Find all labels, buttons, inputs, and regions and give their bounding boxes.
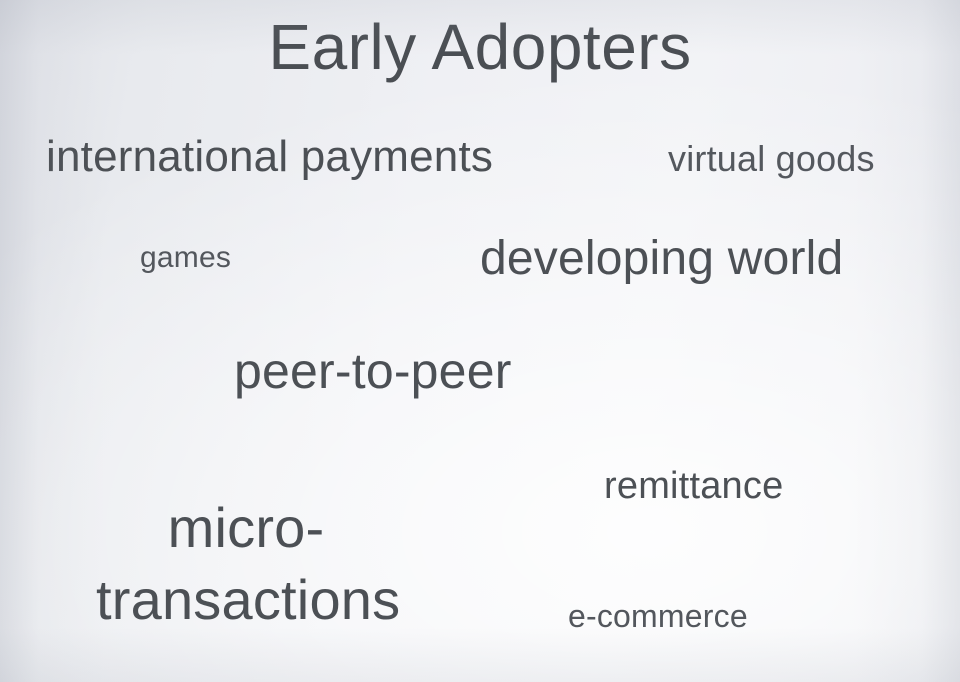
presentation-slide: Early Adopters international payments vi… bbox=[0, 0, 960, 682]
word-games: games bbox=[140, 242, 231, 274]
word-international-payments: international payments bbox=[46, 134, 493, 181]
word-virtual-goods: virtual goods bbox=[668, 140, 875, 178]
word-e-commerce: e-commerce bbox=[568, 600, 748, 634]
page-title: Early Adopters bbox=[0, 12, 960, 82]
word-developing-world: developing world bbox=[480, 234, 843, 285]
word-remittance: remittance bbox=[604, 466, 783, 506]
word-peer-to-peer: peer-to-peer bbox=[234, 345, 512, 398]
word-micro-transactions: micro-transactions bbox=[96, 492, 396, 635]
